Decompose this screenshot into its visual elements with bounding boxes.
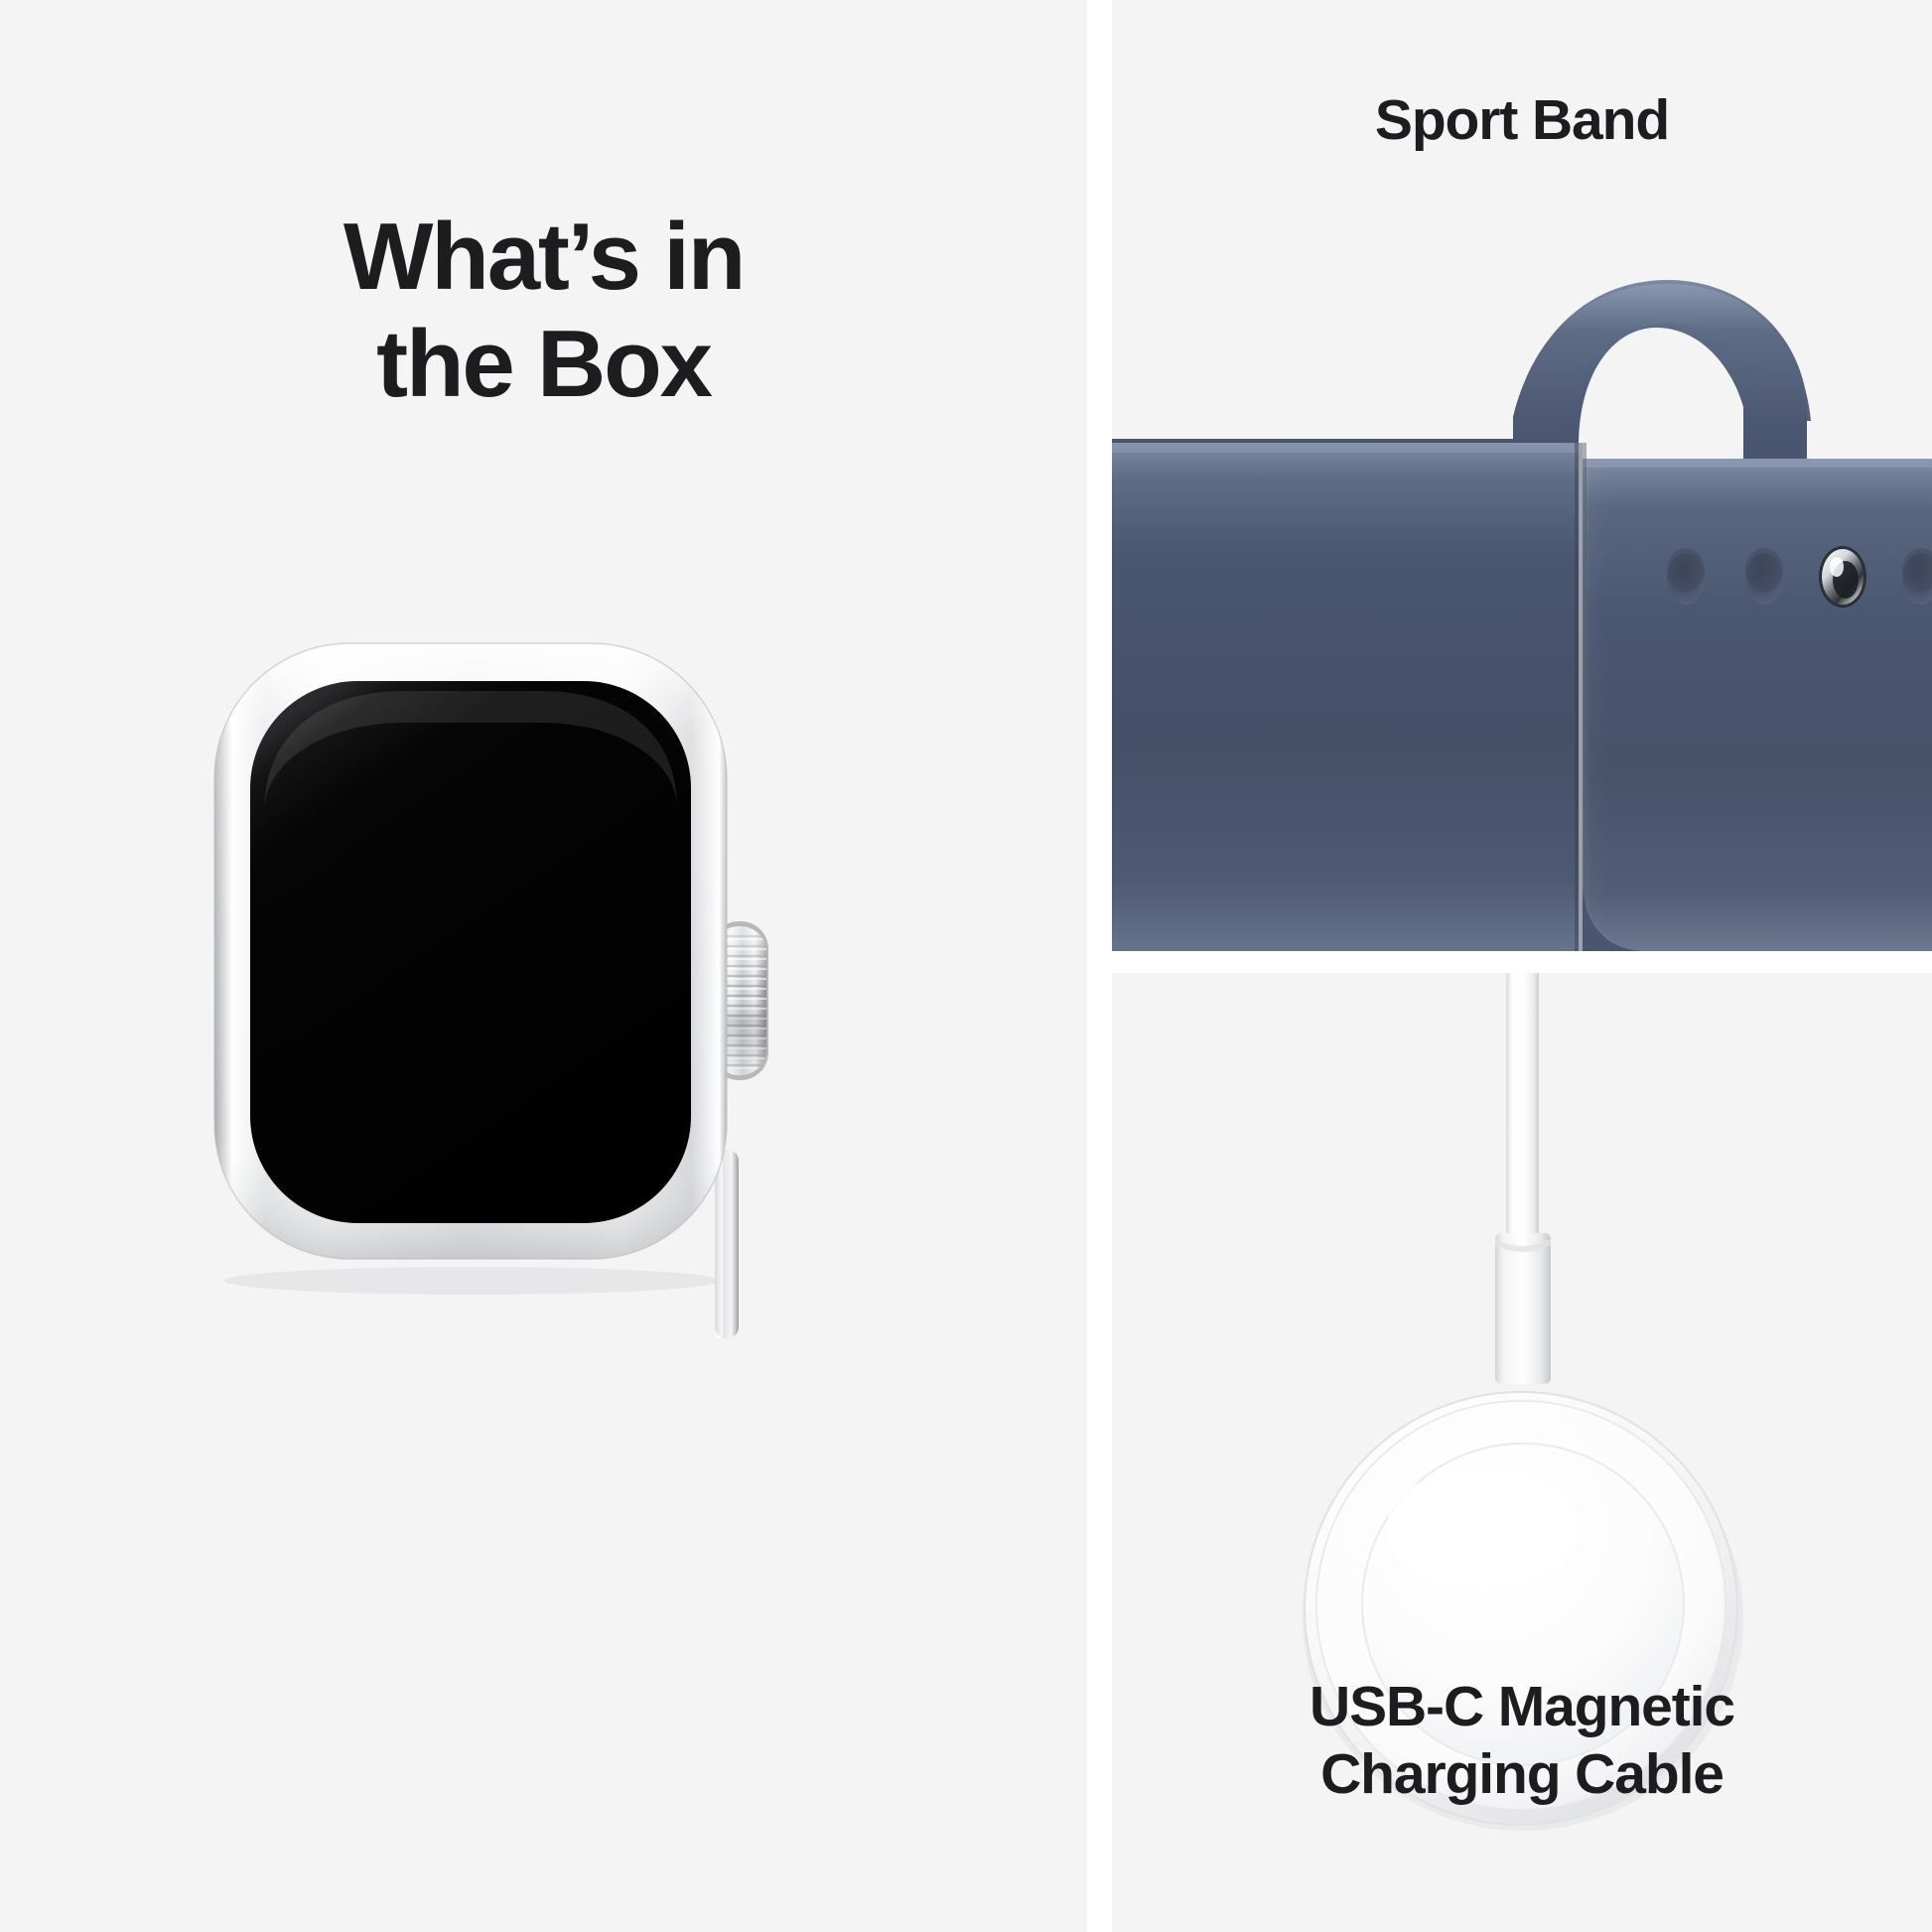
sport-band-illustration	[1112, 0, 1932, 951]
watch-shadow	[224, 1267, 721, 1295]
band-metal-pin	[1819, 546, 1866, 608]
cable-cord	[1506, 973, 1539, 1243]
page-title: What’s in the Box	[0, 204, 1087, 417]
panel-sport-band: Sport Band	[1112, 0, 1932, 951]
band-front-highlight	[1583, 459, 1932, 468]
page-title-line-2: the Box	[0, 311, 1087, 418]
page-title-line-1: What’s in	[0, 204, 1087, 311]
apple-watch-image	[195, 623, 770, 1279]
side-button	[715, 1150, 739, 1338]
sport-band-image	[1112, 0, 1932, 951]
charging-cable-title: USB-C Magnetic Charging Cable	[1112, 1673, 1932, 1809]
band-seam-sheen	[1583, 443, 1608, 951]
cable-collar	[1495, 1233, 1551, 1384]
watch-display	[250, 681, 691, 1223]
panel-whats-in-the-box: What’s in the Box	[0, 0, 1087, 1932]
charging-cable-title-line-2: Charging Cable	[1112, 1740, 1932, 1808]
charging-cable-title-line-1: USB-C Magnetic	[1112, 1673, 1932, 1740]
panel-charging-cable: USB-C Magnetic Charging Cable	[1112, 973, 1932, 1932]
apple-watch-illustration	[195, 623, 890, 1299]
band-front-strap	[1583, 459, 1932, 951]
band-rear-body	[1112, 443, 1579, 951]
band-rear-highlight	[1112, 443, 1579, 453]
whats-in-the-box-layout: What’s in the Box	[0, 0, 1932, 1932]
